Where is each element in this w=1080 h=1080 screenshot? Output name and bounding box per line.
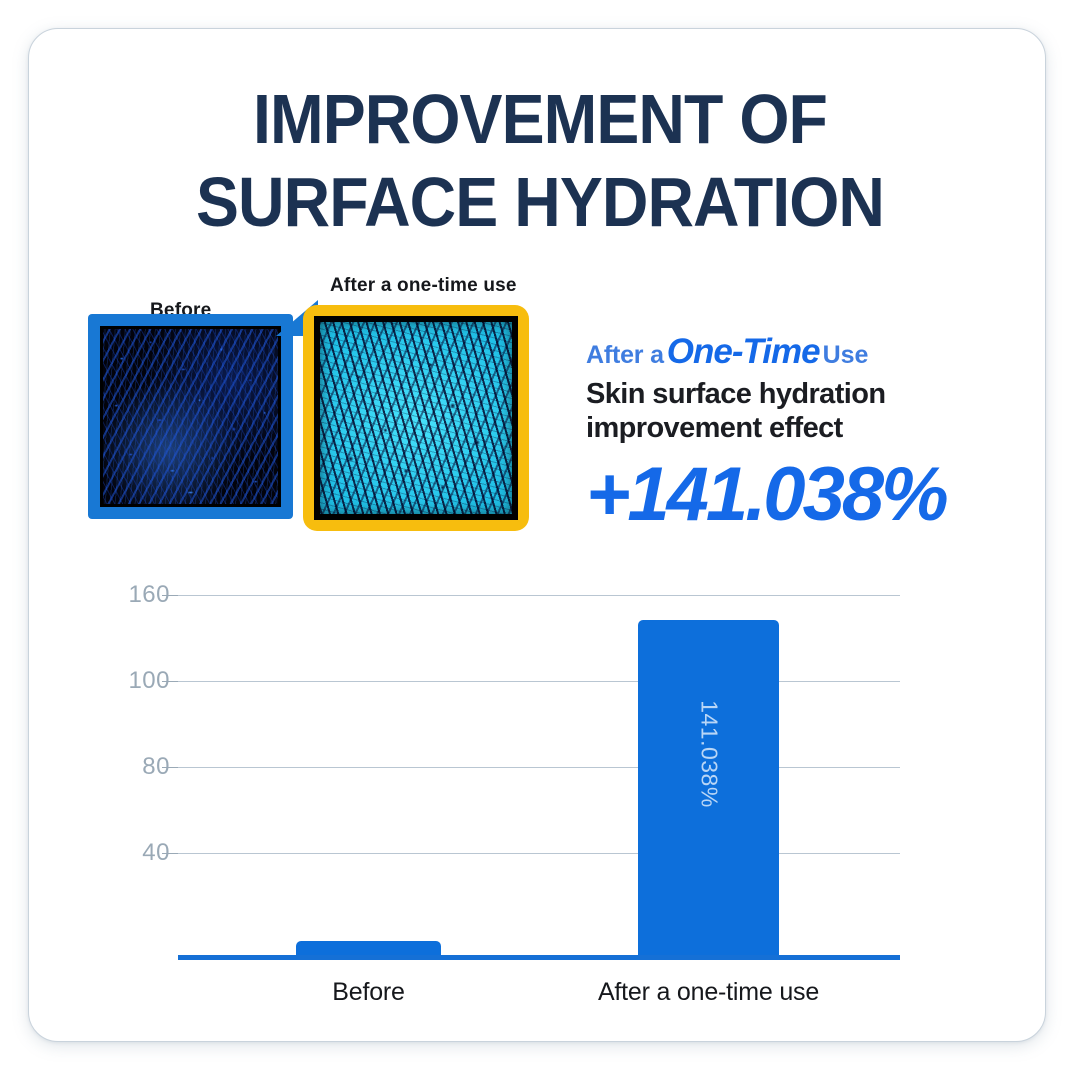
bar-2[interactable]: 141.038%	[638, 620, 779, 955]
micrograph-after-frame	[303, 305, 529, 531]
hero-subtitle-line-2: improvement effect	[586, 412, 843, 444]
bar-chart: Skin surface hydration improvement effec…	[0, 560, 1080, 1020]
micrograph-before-image	[100, 326, 281, 507]
x-axis-baseline	[178, 955, 900, 960]
micrograph-before-frame	[88, 314, 293, 519]
bar-1[interactable]	[296, 941, 441, 955]
title-line-2: SURFACE HYDRATION	[43, 161, 1037, 244]
micrograph-after-label: After a one-time use	[330, 275, 517, 297]
gridline	[178, 595, 900, 596]
title-line-1: IMPROVEMENT OF	[43, 78, 1037, 161]
hero-big-value: +141.038%	[586, 457, 1006, 533]
micrograph-after-image	[314, 316, 518, 520]
gridline	[178, 681, 900, 682]
x-category-label: Before	[332, 978, 404, 1007]
hero-one-time-text: One-Time	[667, 332, 820, 371]
plot-area: Before141.038%After a one-time use	[178, 560, 900, 955]
hero-after-a-text: After a	[586, 341, 664, 369]
page-title: IMPROVEMENT OF SURFACE HYDRATION	[43, 78, 1037, 243]
poster-root: IMPROVEMENT OF SURFACE HYDRATION Before …	[0, 0, 1080, 1080]
gridline	[178, 853, 900, 854]
hero-use-text: Use	[823, 341, 869, 369]
hero-subtitle: Skin surface hydration improvement effec…	[586, 377, 1006, 445]
hero-subtitle-line-1: Skin surface hydration	[586, 378, 885, 410]
hero-headline: After aOne-TimeUse	[586, 334, 1006, 369]
gridline	[178, 767, 900, 768]
y-axis-ticks: 1601008040	[110, 560, 170, 955]
hero-text-block: After aOne-TimeUse Skin surface hydratio…	[586, 334, 1006, 533]
bar-value-label: 141.038%	[695, 700, 722, 808]
x-category-label: After a one-time use	[598, 978, 819, 1007]
